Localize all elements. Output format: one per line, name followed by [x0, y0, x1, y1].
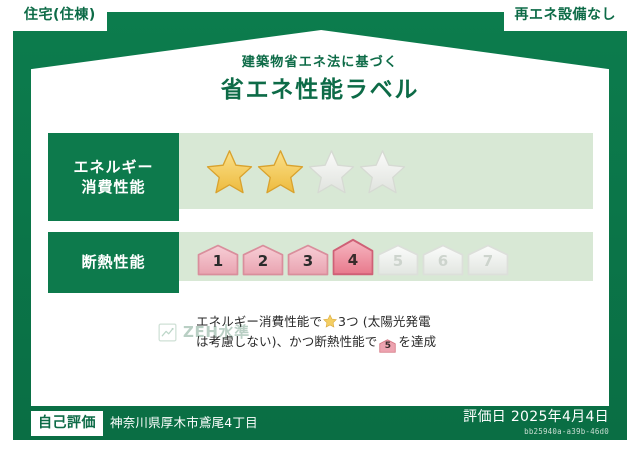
- footer-left-group: 自己評価 神奈川県厚木市鳶尾4丁目: [31, 411, 258, 436]
- evaluation-date: 評価日 2025年4月4日: [463, 410, 609, 425]
- zeh-note-text: エネルギー消費性能で3つ (太陽光発電は考慮しない)、かつ断熱性能で5を達成: [196, 312, 593, 353]
- label-header: 建築物省エネ法に基づく 省エネ性能ラベル: [0, 56, 640, 102]
- insulation-grade-number: 5: [393, 254, 403, 276]
- property-address: 神奈川県厚木市鳶尾4丁目: [110, 417, 258, 430]
- insulation-grade-badge-6: 6: [422, 244, 464, 276]
- zeh-house-icon: [158, 323, 177, 342]
- zeh-note-part1: エネルギー消費性能で: [196, 314, 322, 329]
- zeh-note-part3: は考慮しない)、かつ断熱性能で: [196, 334, 377, 349]
- insulation-grade-badge-2: 2: [242, 244, 284, 276]
- row-energy-label-line1: エネルギー: [73, 157, 153, 177]
- insulation-grade-number: 6: [438, 254, 448, 276]
- insulation-grade-number: 7: [483, 254, 493, 276]
- insulation-grade-number: 4: [348, 253, 358, 276]
- zeh-note-part4: を達成: [398, 334, 436, 349]
- insulation-grade-number: 2: [258, 254, 268, 276]
- insulation-grade-number: 3: [303, 254, 313, 276]
- label-footer: 自己評価 神奈川県厚木市鳶尾4丁目 評価日 2025年4月4日 bb25940a…: [31, 408, 609, 438]
- insulation-grade-badge-5: 5: [377, 244, 419, 276]
- header-subtitle: 建築物省エネ法に基づく: [0, 56, 640, 69]
- star-empty-icon: [358, 148, 407, 195]
- inline-star-icon: [323, 314, 337, 328]
- insulation-grade-badge-3: 3: [287, 244, 329, 276]
- zeh-standard-marker: ZEH水準: [48, 323, 196, 342]
- star-empty-icon: [307, 148, 356, 195]
- evaluation-date-value: 2025年4月4日: [511, 409, 609, 425]
- insulation-grade-badge-7: 7: [467, 244, 509, 276]
- insulation-grade-badge-1: 1: [197, 244, 239, 276]
- row-energy-label: エネルギー 消費性能: [48, 133, 179, 221]
- footer-right-group: 評価日 2025年4月4日 bb25940a-a39b-46d0: [463, 410, 609, 436]
- row-insulation-value: 1234567: [179, 232, 593, 281]
- inline-grade-badge: 5: [379, 339, 396, 353]
- renewable-equipment-tag: 再エネ設備なし: [504, 0, 628, 31]
- zeh-note-part2: 3つ (太陽光発電: [338, 314, 431, 329]
- zeh-note-area: ZEH水準 エネルギー消費性能で3つ (太陽光発電は考慮しない)、かつ断熱性能で…: [48, 312, 593, 353]
- evaluation-id: bb25940a-a39b-46d0: [463, 427, 609, 436]
- page-title: 省エネ性能ラベル: [0, 79, 640, 102]
- star-filled-icon: [256, 148, 305, 195]
- evaluation-date-label: 評価日: [463, 409, 506, 425]
- metric-rows: エネルギー 消費性能 断熱性能 1234567: [48, 133, 593, 304]
- building-type-tag: 住宅(住棟): [13, 0, 107, 31]
- row-insulation-performance: 断熱性能 1234567: [48, 232, 593, 293]
- star-filled-icon: [205, 148, 254, 195]
- row-insulation-label: 断熱性能: [48, 232, 179, 293]
- row-energy-value: [179, 133, 593, 209]
- star-rating: [205, 148, 407, 195]
- energy-performance-label: 住宅(住棟) 再エネ設備なし 建築物省エネ法に基づく 省エネ性能ラベル エネルギ…: [0, 0, 640, 452]
- self-evaluation-badge: 自己評価: [31, 411, 103, 436]
- row-energy-label-line2: 消費性能: [81, 177, 145, 197]
- inline-badge-number: 5: [379, 339, 396, 354]
- insulation-grade-scale: 1234567: [197, 238, 509, 276]
- insulation-grade-badge-4: 4: [332, 238, 374, 276]
- row-insulation-label-line1: 断熱性能: [81, 252, 145, 272]
- insulation-grade-number: 1: [213, 254, 223, 276]
- row-energy-performance: エネルギー 消費性能: [48, 133, 593, 221]
